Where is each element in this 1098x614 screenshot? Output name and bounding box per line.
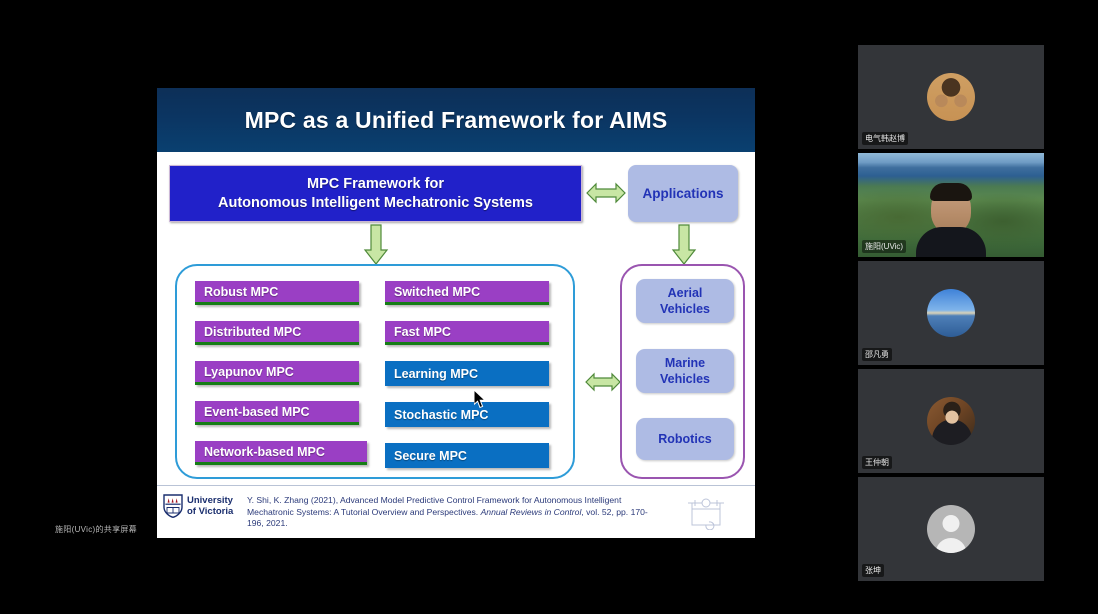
down-arrow-to-mpc-variants	[363, 224, 389, 266]
application-robotics-label: Robotics	[658, 431, 711, 447]
control-loop-diagram-icon	[685, 496, 727, 530]
avatar	[927, 505, 975, 553]
zoom-meeting-screen: 施阳(UVic)的共享屏幕 MPC as a Unified Framework…	[0, 0, 1098, 614]
framework-line-2: Autonomous Intelligent Mechatronic Syste…	[218, 194, 533, 213]
mpc-chip-network-based: Network-based MPC	[195, 441, 367, 465]
framework-line-1: MPC Framework for	[307, 175, 444, 194]
application-chip-aerial-vehicles: Aerial Vehicles	[636, 279, 734, 323]
mpc-chip-distributed: Distributed MPC	[195, 321, 359, 345]
uvic-name-text: University of Victoria	[187, 495, 233, 517]
mpc-variants-container: Robust MPC Distributed MPC Lyapunov MPC …	[175, 264, 575, 479]
participant-tile-4[interactable]: 王仲朝	[858, 369, 1044, 473]
mpc-chip-event-based: Event-based MPC	[195, 401, 359, 425]
application-aerial-line-2: Vehicles	[660, 301, 710, 317]
application-marine-line-2: Vehicles	[660, 371, 710, 387]
uvic-name-line-1: University	[187, 495, 233, 506]
mouse-cursor	[474, 390, 487, 409]
mpc-chip-switched: Switched MPC	[385, 281, 549, 305]
page-title: MPC as a Unified Framework for AIMS	[245, 107, 668, 134]
mpc-chip-robust: Robust MPC	[195, 281, 359, 305]
avatar	[927, 397, 975, 445]
avatar	[927, 73, 975, 121]
mpc-chip-secure: Secure MPC	[385, 443, 549, 468]
applications-header-box: Applications	[628, 165, 738, 222]
mpc-chip-lyapunov: Lyapunov MPC	[195, 361, 359, 385]
participant-name: 邵凡勇	[862, 348, 892, 361]
mpc-chip-learning: Learning MPC	[385, 361, 549, 386]
mpc-column-left: Robust MPC Distributed MPC Lyapunov MPC …	[195, 281, 367, 481]
participant-strip: 电气韩赵博 施阳(UVic) 邵凡勇 王仲朝 张坤	[858, 45, 1044, 585]
video-participant-figure	[916, 185, 986, 257]
participant-name: 电气韩赵博	[862, 132, 908, 145]
participant-tile-1[interactable]: 电气韩赵博	[858, 45, 1044, 149]
shared-slide: MPC as a Unified Framework for AIMS MPC …	[157, 88, 755, 538]
double-arrow-variants-applications	[584, 370, 622, 394]
participant-tile-2-active-speaker[interactable]: 施阳(UVic)	[858, 153, 1044, 257]
application-aerial-line-1: Aerial	[668, 285, 703, 301]
mpc-chip-fast: Fast MPC	[385, 321, 549, 345]
down-arrow-to-application-list	[671, 224, 697, 266]
share-watermark-label: 施阳(UVic)的共享屏幕	[55, 524, 137, 535]
double-arrow-framework-applications	[585, 180, 627, 206]
slide-title-bar: MPC as a Unified Framework for AIMS	[157, 88, 755, 152]
application-chip-robotics: Robotics	[636, 418, 734, 460]
avatar	[927, 289, 975, 337]
mpc-framework-box: MPC Framework for Autonomous Intelligent…	[169, 165, 582, 222]
participant-name: 施阳(UVic)	[862, 240, 906, 253]
participant-name: 王仲朝	[862, 456, 892, 469]
participant-tile-3[interactable]: 邵凡勇	[858, 261, 1044, 365]
citation-text: Y. Shi, K. Zhang (2021), Advanced Model …	[247, 495, 657, 530]
uvic-shield-icon	[163, 494, 183, 518]
citation-journal-name: Annual Reviews in Control	[481, 507, 582, 517]
participant-name: 张坤	[862, 564, 884, 577]
applications-container: Aerial Vehicles Marine Vehicles Robotics	[620, 264, 745, 479]
application-chip-marine-vehicles: Marine Vehicles	[636, 349, 734, 393]
mpc-chip-stochastic: Stochastic MPC	[385, 402, 549, 427]
application-marine-line-1: Marine	[665, 355, 705, 371]
mpc-column-right: Switched MPC Fast MPC Learning MPC Stoch…	[385, 281, 549, 484]
participant-tile-5[interactable]: 张坤	[858, 477, 1044, 581]
slide-footer: University of Victoria Y. Shi, K. Zhang …	[157, 485, 755, 538]
uvic-name-line-2: of Victoria	[187, 506, 233, 517]
applications-label: Applications	[642, 186, 723, 201]
uvic-logo: University of Victoria	[163, 494, 233, 518]
